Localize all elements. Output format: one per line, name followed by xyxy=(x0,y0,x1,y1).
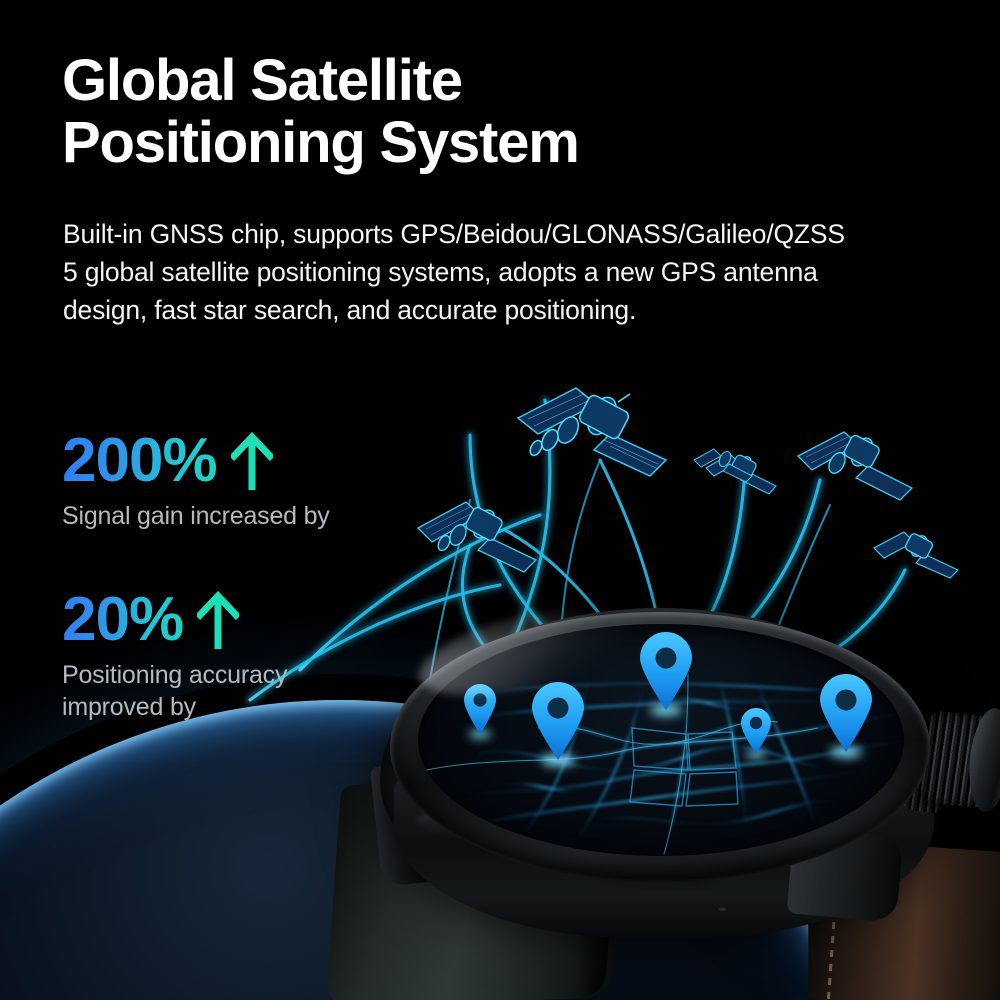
stat-label-line-1: Positioning accuracy xyxy=(62,659,462,692)
stat-value-20: 20% xyxy=(62,589,183,651)
description-line-2: 5 global satellite positioning systems, … xyxy=(63,253,973,291)
page-title: Global Satellite Positioning System xyxy=(62,50,762,174)
description-line-3: design, fast star search, and accurate p… xyxy=(63,291,973,329)
stat-label-signal-gain: Signal gain increased by xyxy=(62,500,462,533)
stat-value-row: 20% xyxy=(62,589,462,651)
description-text: Built-in GNSS chip, supports GPS/Beidou/… xyxy=(63,215,973,329)
scene-stage: Global Satellite Positioning System Buil… xyxy=(0,0,1000,1000)
stats-group: 200% Signal gain increased by 20% xyxy=(62,430,462,780)
title-line-2: Positioning System xyxy=(62,112,762,174)
stat-positioning-accuracy: 20% Positioning accuracy improved by xyxy=(62,589,462,724)
map-pin-5 xyxy=(820,674,872,752)
up-arrow-icon xyxy=(231,432,273,490)
satellite-icon-6 xyxy=(690,440,756,484)
satellite-icon-4 xyxy=(790,418,920,502)
map-pin-2 xyxy=(532,682,584,760)
up-arrow-icon xyxy=(197,591,239,649)
description-line-1: Built-in GNSS chip, supports GPS/Beidou/… xyxy=(63,215,973,253)
stat-value-200: 200% xyxy=(62,430,217,492)
stat-signal-gain: 200% Signal gain increased by xyxy=(62,430,462,533)
satellite-icon-5 xyxy=(868,518,964,582)
map-pin-glows xyxy=(469,705,862,767)
stat-label-line-2: improved by xyxy=(62,691,462,724)
stat-label-positioning-accuracy: Positioning accuracy improved by xyxy=(62,659,462,724)
satellite-icon-1 xyxy=(500,372,680,482)
stat-value-row: 200% xyxy=(62,430,462,492)
watch-microphone-hole xyxy=(718,906,727,911)
title-line-1: Global Satellite xyxy=(62,50,762,112)
